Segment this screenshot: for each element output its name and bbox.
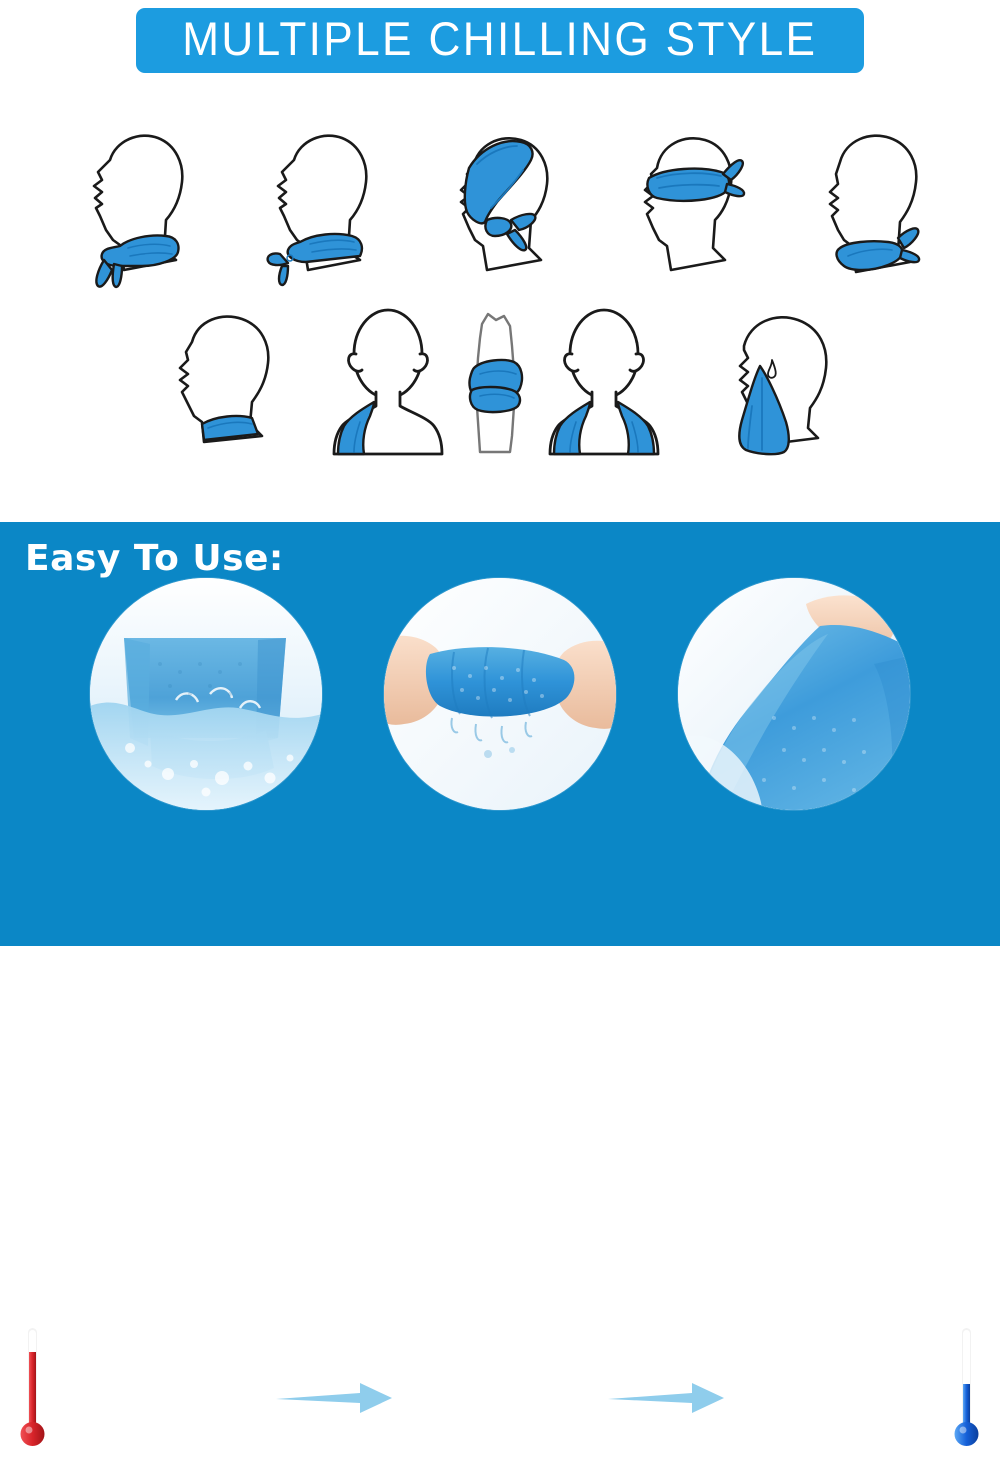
step-label-soak: Soak It <box>73 1379 263 1418</box>
style-neck-scarf-side-knot <box>242 120 392 290</box>
arrow-right-icon-1 <box>268 1378 400 1418</box>
style-eye-band-blindfold <box>609 120 759 290</box>
style-neck-band-back-knot <box>792 120 942 290</box>
title-banner-container: MULTIPLE CHILLING STYLE <box>0 8 1000 73</box>
step-photos <box>0 578 1000 828</box>
style-neck-scarf-front-knot <box>58 120 208 290</box>
step-label-shake: Shake It <box>737 1379 927 1418</box>
step-label-wring: Wring It <box>405 1379 595 1418</box>
title-banner: MULTIPLE CHILLING STYLE <box>136 8 864 73</box>
styles-illustration-area <box>0 96 1000 508</box>
style-wrist-wrap <box>452 302 538 462</box>
photo-shake-it <box>678 578 910 810</box>
style-shoulder-drape-left <box>326 302 446 462</box>
style-collar-wrap <box>146 302 286 462</box>
style-face-wipe <box>704 302 854 462</box>
banner-title: MULTIPLE CHILLING STYLE <box>182 15 817 62</box>
product-infographic: MULTIPLE CHILLING STYLE <box>0 0 1000 946</box>
thermometer-hot-icon <box>10 1308 56 1465</box>
styles-row-2 <box>0 302 1000 462</box>
easy-to-use-panel: Easy To Use: <box>0 522 1000 946</box>
photo-soak-it <box>90 578 322 810</box>
style-head-wrap-bandana <box>425 120 575 290</box>
step-labels: Soak It Wring It Shake It <box>0 1367 1000 1429</box>
panel-heading: Easy To Use: <box>25 538 284 579</box>
arrow-right-icon-2 <box>600 1378 732 1418</box>
thermometer-cold-icon <box>944 1308 990 1465</box>
photo-wring-it <box>384 578 616 810</box>
styles-row-1 <box>0 120 1000 290</box>
style-shoulder-drape-both <box>544 302 664 462</box>
